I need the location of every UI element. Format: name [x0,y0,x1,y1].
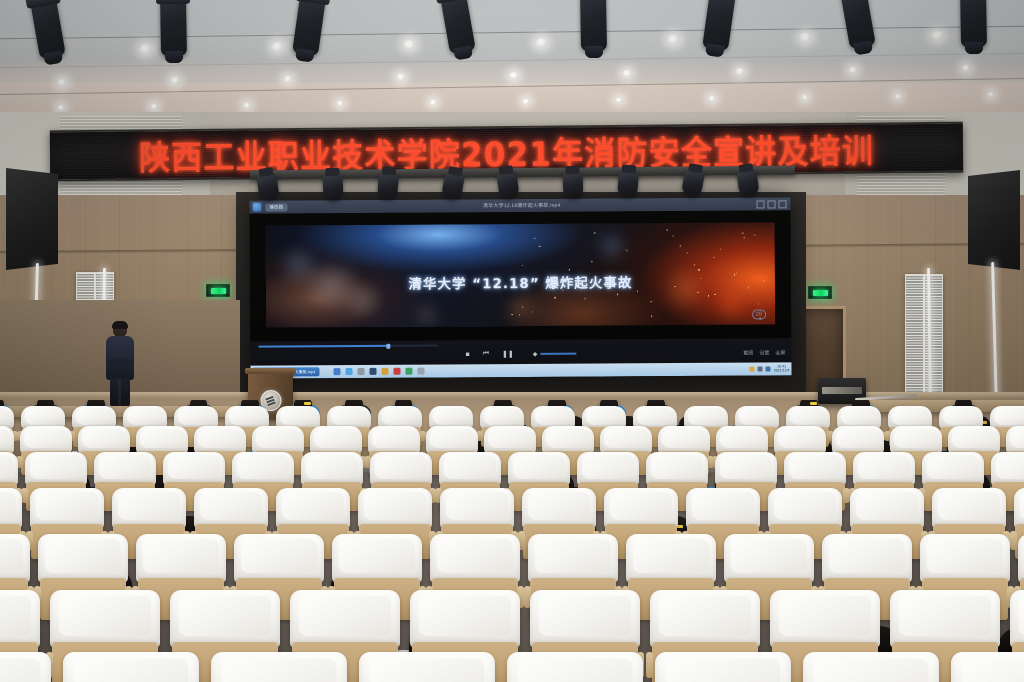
speaker-left [6,168,58,270]
seat-cover [94,452,156,486]
tray-icon[interactable] [766,366,771,371]
ceiling-downlight-icon [802,95,808,100]
seat-cover [626,534,716,583]
seat-cover [850,488,924,529]
seat-cover [426,426,478,454]
ember [554,297,556,299]
taskbar-app-icon[interactable] [381,368,388,375]
exit-sign-right [808,286,832,299]
stage-spotlight-icon [30,0,66,59]
taskbar-icon-group[interactable] [333,368,424,376]
video-title-text: 清华大学 “12.18” 爆炸起火事故 [266,270,775,293]
auditorium-seat[interactable] [655,652,791,682]
seat-cover [784,452,846,486]
stage-spotlight-icon [580,0,607,51]
seat-cover [922,452,984,486]
seat-cover [194,488,268,529]
auditorium-seat[interactable] [0,652,51,682]
seat-cover [310,426,362,454]
fullscreen-icon[interactable]: 全屏 [775,349,785,356]
seat-cover [484,426,536,454]
audience-seating [0,400,1024,682]
speaker-right [968,170,1020,270]
stage-spotlight-icon [617,170,639,197]
seat-cover [655,652,791,682]
seat-cover [0,452,18,486]
ceiling-downlight-icon [623,70,631,77]
taskbar-app-icon[interactable] [357,368,364,375]
seat-cover [770,590,880,648]
player-app-chip: 播放器 [265,203,287,211]
smoke-effects [266,222,775,225]
seat-cover [63,652,199,682]
restore-icon[interactable] [767,200,775,208]
ember [743,237,745,239]
ember [742,233,744,235]
smoke-puff [500,295,542,321]
seat-cover [163,452,225,486]
ember [713,256,715,258]
ceiling-downlight-icon [171,77,179,84]
ember [673,235,675,237]
player-right-controls[interactable]: 截图 设置 全屏 [743,349,785,356]
seat-cover [948,426,1000,454]
seat-cover [234,534,324,583]
stage-spotlight-icon [160,0,187,56]
seat-cover [1010,590,1024,648]
smoke-puff [591,231,631,261]
ember [708,295,710,297]
seat-cover [890,426,942,454]
ceiling-downlight-icon [404,40,415,49]
seat-armrest [646,652,653,678]
ceiling-downlight-icon [895,94,901,99]
video-watermark-badge: 28 [752,309,766,319]
seat-cover [370,452,432,486]
previous-icon[interactable]: ⏮ [483,350,489,358]
seat-cover [194,426,246,454]
cap-highlight [304,402,311,405]
volume-slider[interactable] [540,353,576,355]
taskbar-app-icon[interactable] [345,368,352,375]
ceiling-downlight-icon [536,38,547,47]
ember [719,248,721,250]
volume-control[interactable]: ◆ [533,350,577,357]
exit-sign-left [206,284,230,297]
player-window-buttons[interactable] [756,200,786,208]
stage-spotlight-icon [563,171,584,198]
seat-cover [38,534,128,583]
seat-cover [332,534,422,583]
tray-icon[interactable] [750,367,755,372]
ember-effects [266,222,775,225]
ceiling-downlight-icon [988,92,994,97]
clock-date: 2021/11/4 [774,369,790,373]
stage-spotlight-icon [840,0,876,49]
ceiling-downlight-icon [430,100,436,105]
seat-armrest [1010,531,1017,549]
ceiling-downlight-icon [284,76,292,83]
seat-cover [301,452,363,486]
ceiling-seam [0,78,1024,95]
exit-icon [211,288,226,294]
cap-highlight [810,402,817,405]
ember [569,269,571,271]
video-badge-number: 28 [752,309,766,319]
presenter-arms [107,354,133,363]
seat-cover [951,652,1024,682]
close-icon[interactable] [778,200,786,208]
ember [539,246,541,248]
video-canvas[interactable]: 清华大学 “12.18” 爆炸起火事故 28 [250,210,792,341]
seat-cover [646,452,708,486]
player-logo-icon [252,203,261,212]
seat-cover [542,426,594,454]
seat-cover [359,652,495,682]
taskbar-app-icon[interactable] [417,368,424,375]
seat-cover [604,488,678,529]
ember [697,292,699,294]
ceiling-downlight-icon [668,35,679,44]
seat-cover [507,652,643,682]
auditorium-photo: 陕西工业职业技术学院2021年消防安全宣讲及培训 播放器 清华大学12.18爆炸… [0,0,1024,682]
ceiling-downlight-icon [140,44,151,53]
auditorium-seat[interactable] [507,652,643,682]
seat-cover [232,452,294,486]
smoke-puff [409,304,445,328]
seat-cover [932,488,1006,529]
ember [534,238,536,240]
video-frame: 清华大学 “12.18” 爆炸起火事故 28 [266,222,775,327]
ceiling-downlight-icon [510,72,518,79]
ceiling-downlight-icon [849,67,857,74]
projection-screen: 播放器 清华大学12.18爆炸起火事故.mp4 清华大学 “12.18” 爆炸起… [249,197,791,378]
settings-icon[interactable]: 设置 [759,349,769,356]
seat-cover [368,426,420,454]
presenter-hair [112,321,128,329]
player-controls[interactable]: ■ ⏮ ❚❚ ◆ 截图 设置 全屏 [250,338,791,365]
seat-cover [920,534,1010,583]
ember [532,311,534,313]
stage-spotlight-icon [960,0,987,47]
ceiling-downlight-icon [523,99,529,104]
stage-spotlight-icon [702,0,736,51]
seat-cover [440,488,514,529]
auditorium-seat[interactable] [359,652,495,682]
ceiling [0,0,1024,118]
seat-cover [658,426,710,454]
player-filename: 清华大学12.18爆炸起火事故.mp4 [287,201,757,211]
stage-spotlight-icon [736,169,759,198]
seat-cover [650,590,760,648]
ember [693,264,695,266]
seat-cover [50,590,160,648]
seat-cover [890,590,1000,648]
ceiling-downlight-icon [337,101,343,106]
seat-cover [252,426,304,454]
seat-cover [170,590,280,648]
seat-cover [25,452,87,486]
seat-cover [1014,488,1024,529]
seat-cover [0,652,51,682]
ceiling-downlight-icon [58,105,64,110]
ember [594,232,596,234]
seat-cover [530,590,640,648]
seat-cover [0,426,14,454]
seat-cover [78,426,130,454]
stage-spotlight-icon [292,0,326,56]
taskbar-app-icon[interactable] [393,368,400,375]
seat-cover [715,452,777,486]
auditorium-seat[interactable] [951,652,1024,682]
ember [585,298,587,300]
seat-cover [358,488,432,529]
pause-icon[interactable]: ❚❚ [502,350,514,358]
seat-cover [20,426,72,454]
seat-cover [832,426,884,454]
seat-cover [136,426,188,454]
seek-fill [258,345,388,348]
ceiling-downlight-icon [397,74,405,81]
ember [626,250,628,252]
seat-cover [430,534,520,583]
seat-cover [600,426,652,454]
ceiling-downlight-icon [800,33,811,42]
tray-icon[interactable] [758,367,763,372]
seat-cover [276,488,350,529]
seat-cover [1006,426,1024,454]
seat-cover [522,488,596,529]
stage-spotlight-icon [323,173,344,200]
presenter [104,322,136,406]
transport-buttons[interactable]: ■ ⏮ ❚❚ ◆ [250,348,791,359]
seat-cover [768,488,842,529]
seat-armrest [21,488,28,503]
ceiling-downlight-icon [932,31,943,40]
seat-cover [410,590,520,648]
seat-cover [991,452,1024,486]
seat-cover [439,452,501,486]
ember [591,261,593,263]
ceiling-seam [0,53,1024,69]
seat-cover [822,534,912,583]
ember [667,230,669,232]
seat-cover [686,488,760,529]
ceiling-downlight-icon [962,65,970,72]
auditorium-seat[interactable] [211,652,347,682]
ceiling-downlight-icon [272,42,283,51]
taskbar-app-icon[interactable] [369,368,376,375]
screenshot-icon[interactable]: 截图 [743,350,753,357]
seat-cover [1018,534,1024,583]
ceiling-downlight-icon [58,79,66,86]
seat-cover [290,590,400,648]
ember [758,303,760,305]
seek-bar[interactable] [258,345,438,348]
seat-cover [853,452,915,486]
seat-cover [774,426,826,454]
seat-cover [803,652,939,682]
taskbar-clock[interactable]: 10:41 2021/11/4 [774,365,790,373]
system-tray[interactable]: 10:41 2021/11/4 [750,365,790,373]
ceiling-downlight-icon [709,96,715,101]
taskbar-app-icon[interactable] [333,368,340,375]
seat-cover [112,488,186,529]
stage-spotlight-icon [440,0,476,54]
seat-cover [724,534,814,583]
ceiling-downlight-icon [151,104,157,109]
ventilation-grille-right [905,274,943,398]
ceiling-downlight-icon [616,98,622,103]
stop-icon[interactable]: ■ [465,351,469,358]
ember [651,315,653,317]
seat-cover [528,534,618,583]
taskbar-app-icon[interactable] [405,368,412,375]
seek-knob[interactable] [386,343,390,348]
ceiling-downlight-icon [736,68,744,75]
seat-cover [716,426,768,454]
seat-cover [0,488,22,529]
ceiling-downlight-icon [244,103,250,108]
ember [679,245,681,247]
exit-icon [813,290,828,296]
ember [650,301,652,303]
ember [617,293,619,295]
ember [686,252,688,254]
seat-cover [136,534,226,583]
ember [754,234,756,236]
volume-icon[interactable]: ◆ [533,350,538,357]
seat-cover [508,452,570,486]
seat-cover [0,534,30,583]
ember [522,265,524,267]
seat-cover [0,590,40,648]
auditorium-seat[interactable] [63,652,199,682]
seat-cover [577,452,639,486]
minimize-icon[interactable] [756,200,764,208]
auditorium-seat[interactable] [803,652,939,682]
seat-cover [30,488,104,529]
seat-cover [211,652,347,682]
stage-spotlight-icon [377,173,399,200]
